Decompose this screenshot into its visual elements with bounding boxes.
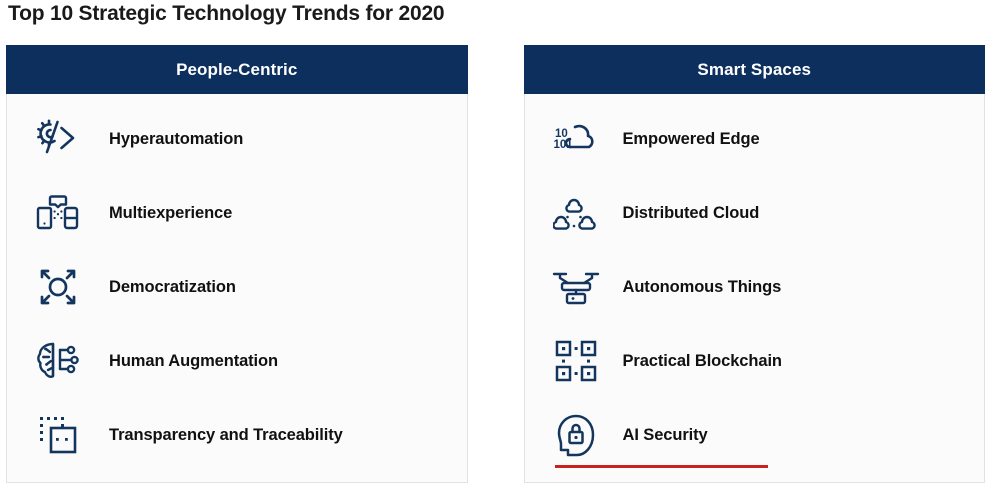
dotted-square-icon bbox=[29, 409, 87, 461]
list-item-label: Practical Blockchain bbox=[623, 352, 782, 371]
list-item-label: Human Augmentation bbox=[109, 352, 278, 371]
list-item-label: Empowered Edge bbox=[623, 130, 760, 149]
three-clouds-icon bbox=[547, 187, 605, 239]
drone-icon bbox=[547, 261, 605, 313]
ai-security-highlight-underline bbox=[555, 465, 768, 468]
page-title: Top 10 Strategic Technology Trends for 2… bbox=[8, 2, 444, 26]
list-item-label: AI Security bbox=[623, 426, 708, 445]
blockchain-nodes-icon bbox=[547, 335, 605, 387]
list-item[interactable]: Multiexperience bbox=[7, 176, 467, 250]
list-item[interactable]: AI Security bbox=[525, 398, 985, 472]
list-item[interactable]: Distributed Cloud bbox=[525, 176, 985, 250]
list-item[interactable]: Democratization bbox=[7, 250, 467, 324]
list-item[interactable]: 10 101 Empowered Edge bbox=[525, 102, 985, 176]
list-item-label: Hyperautomation bbox=[109, 130, 243, 149]
list-item-label: Autonomous Things bbox=[623, 278, 782, 297]
list-item[interactable]: Transparency and Traceability bbox=[7, 398, 467, 472]
list-item[interactable]: Hyperautomation bbox=[7, 102, 467, 176]
panel-smart-spaces: Smart Spaces 10 101 Empowered bbox=[524, 45, 986, 483]
list-item-label: Democratization bbox=[109, 278, 236, 297]
gear-code-icon bbox=[29, 113, 87, 165]
list-item-label: Distributed Cloud bbox=[623, 204, 760, 223]
panel-header-smart-spaces: Smart Spaces bbox=[524, 45, 986, 94]
binary-cloud-icon: 10 101 bbox=[547, 113, 605, 165]
head-lock-icon bbox=[547, 409, 605, 461]
multidevice-icon bbox=[29, 187, 87, 239]
list-item[interactable]: Practical Blockchain bbox=[525, 324, 985, 398]
list-item[interactable]: Autonomous Things bbox=[525, 250, 985, 324]
svg-text:101: 101 bbox=[553, 139, 573, 151]
list-item-label: Multiexperience bbox=[109, 204, 232, 223]
panel-people-centric: People-Centric Hyperautomation bbox=[6, 45, 468, 483]
list-item-label: Transparency and Traceability bbox=[109, 426, 343, 445]
expand-circle-icon bbox=[29, 261, 87, 313]
list-item[interactable]: Human Augmentation bbox=[7, 324, 467, 398]
panel-header-people-centric: People-Centric bbox=[6, 45, 468, 94]
panel-body-people-centric: Hyperautomation bbox=[7, 94, 467, 482]
panel-body-smart-spaces: 10 101 Empowered Edge bbox=[525, 94, 985, 482]
trends-columns: People-Centric Hyperautomation bbox=[0, 45, 991, 483]
brain-circuit-icon bbox=[29, 335, 87, 387]
